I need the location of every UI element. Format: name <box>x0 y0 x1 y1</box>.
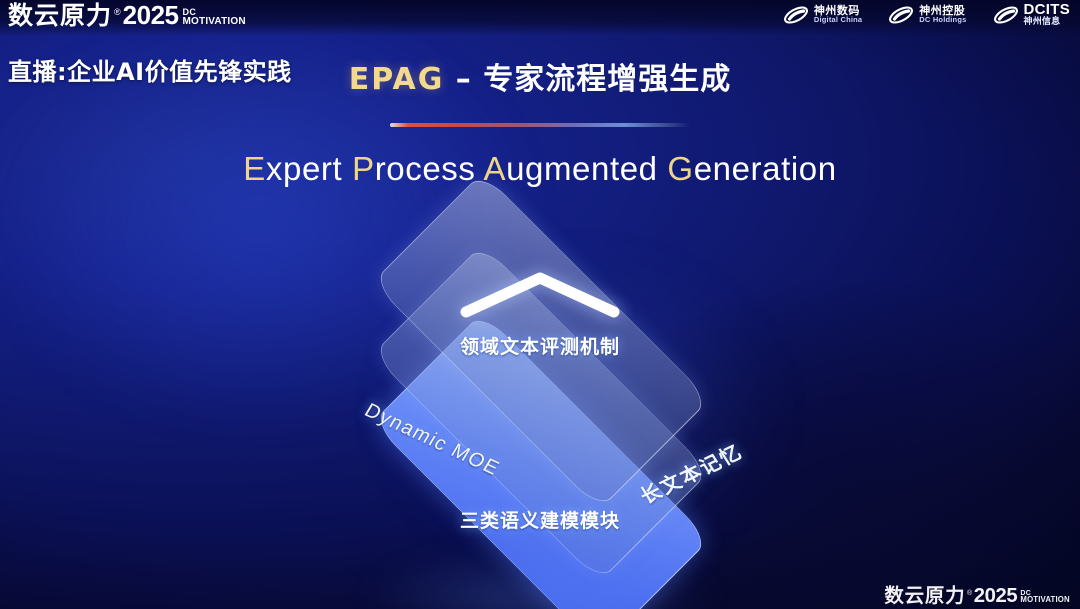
brand-registered-mark: ® <box>967 589 972 596</box>
brand-motivation: MOTIVATION <box>1021 596 1070 604</box>
word-initial-e: E <box>243 150 266 187</box>
brand-registered-mark: ® <box>114 8 121 17</box>
brand-name-cn: 数云原力 <box>885 586 966 606</box>
swirl-logo-icon <box>993 5 1019 25</box>
word-rest-generation: eneration <box>694 150 837 187</box>
partner-text: 神州控股 DC Holdings <box>919 5 966 24</box>
word-rest-expert: xpert <box>266 150 342 187</box>
partner-text: 神州数码 Digital China <box>814 5 862 24</box>
title-chinese: 专家流程增强生成 <box>483 62 731 97</box>
diagram-label-top: 领域文本评测机制 <box>460 332 620 359</box>
word-rest-process: rocess <box>375 150 476 187</box>
swirl-logo-icon <box>888 5 914 25</box>
brand-motivation: MOTIVATION <box>183 17 246 27</box>
brand-year: 2025 <box>123 2 179 28</box>
brand-year: 2025 <box>974 585 1018 605</box>
partner-logo-row: 神州数码 Digital China 神州控股 DC Holdings <box>783 2 1070 27</box>
partner-name-cn: DCITS <box>1024 2 1071 18</box>
gradient-divider <box>390 123 690 127</box>
partner-logo-dc-holdings: 神州控股 DC Holdings <box>888 5 966 25</box>
brand-dc-motivation: DC MOTIVATION <box>1021 589 1070 604</box>
brand-logo-top: 数云原力® 2025 DC MOTIVATION <box>8 2 246 28</box>
partner-logo-digital-china: 神州数码 Digital China <box>783 5 862 25</box>
layered-architecture-diagram: 领域文本评测机制 Dynamic MOE 长文本记忆 三类语义建模模块 <box>292 228 788 568</box>
partner-name-en: 神州信息 <box>1024 18 1071 27</box>
partner-text: DCITS 神州信息 <box>1024 2 1071 27</box>
word-initial-p: P <box>352 150 375 187</box>
livestream-subtitle: 直播:企业AI价值先锋实践 <box>8 52 292 87</box>
swirl-logo-icon <box>783 5 809 25</box>
partner-name-en: Digital China <box>814 16 862 24</box>
word-rest-augmented: ugmented <box>506 150 658 187</box>
subtitle-english: Expert Process Augmented Generation <box>0 150 1080 188</box>
brand-name-cn: 数云原力 <box>8 3 112 28</box>
partner-name-en: DC Holdings <box>919 16 966 24</box>
brand-dc-motivation: DC MOTIVATION <box>183 8 246 27</box>
brand-logo-watermark: 数云原力® 2025 DC MOTIVATION <box>885 585 1070 605</box>
partner-logo-dcits: DCITS 神州信息 <box>993 2 1071 27</box>
title-acronym: EPAG <box>349 62 445 97</box>
slide-root: 数云原力® 2025 DC MOTIVATION 直播:企业AI价值先锋实践 神… <box>0 0 1080 609</box>
diagram-label-bottom: 三类语义建模模块 <box>460 506 620 533</box>
title-separator: – <box>444 62 483 97</box>
word-initial-g: G <box>667 150 693 187</box>
word-initial-a: A <box>483 150 506 187</box>
